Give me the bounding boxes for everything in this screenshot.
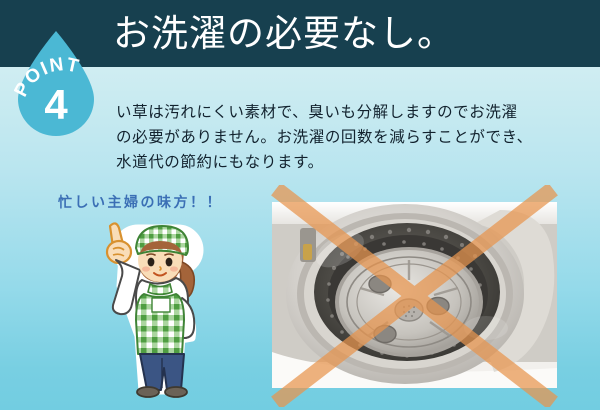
character-eye-left xyxy=(148,258,155,267)
housewife-character-illustration xyxy=(86,216,208,398)
character-eye-right xyxy=(166,258,173,267)
point-badge: POINT 4 xyxy=(14,31,98,136)
pulsator-hole-2 xyxy=(427,298,449,315)
character-apron xyxy=(136,284,184,354)
washing-machine-photo xyxy=(272,202,557,388)
body-line-2: の必要がありません。お洗濯の回数を減らすことができ、 xyxy=(116,125,526,150)
body-line-3: 水道代の節約にもなります。 xyxy=(116,150,526,175)
pulsator-hole-3 xyxy=(374,326,396,343)
catch-copy: 忙しい主婦の味方！！ xyxy=(58,194,223,212)
body-line-1: い草は汚れにくい素材で、臭いも分解しますのでお洗濯 xyxy=(116,100,526,125)
body-paragraph: い草は汚れにくい素材で、臭いも分解しますのでお洗濯 の必要がありません。お洗濯の… xyxy=(116,100,526,175)
badge-number: 4 xyxy=(14,83,98,127)
pulsator-hole-1 xyxy=(369,276,391,293)
character-shoe-left xyxy=(137,387,159,397)
page-title: お洗濯の必要なし。 xyxy=(113,12,455,58)
infographic-canvas: お洗濯の必要なし。 POINT 4 い草は汚れにくい素材で、臭いも分解しますので… xyxy=(0,0,600,410)
apron-pocket xyxy=(152,298,170,312)
character-shoe-right xyxy=(165,387,187,397)
